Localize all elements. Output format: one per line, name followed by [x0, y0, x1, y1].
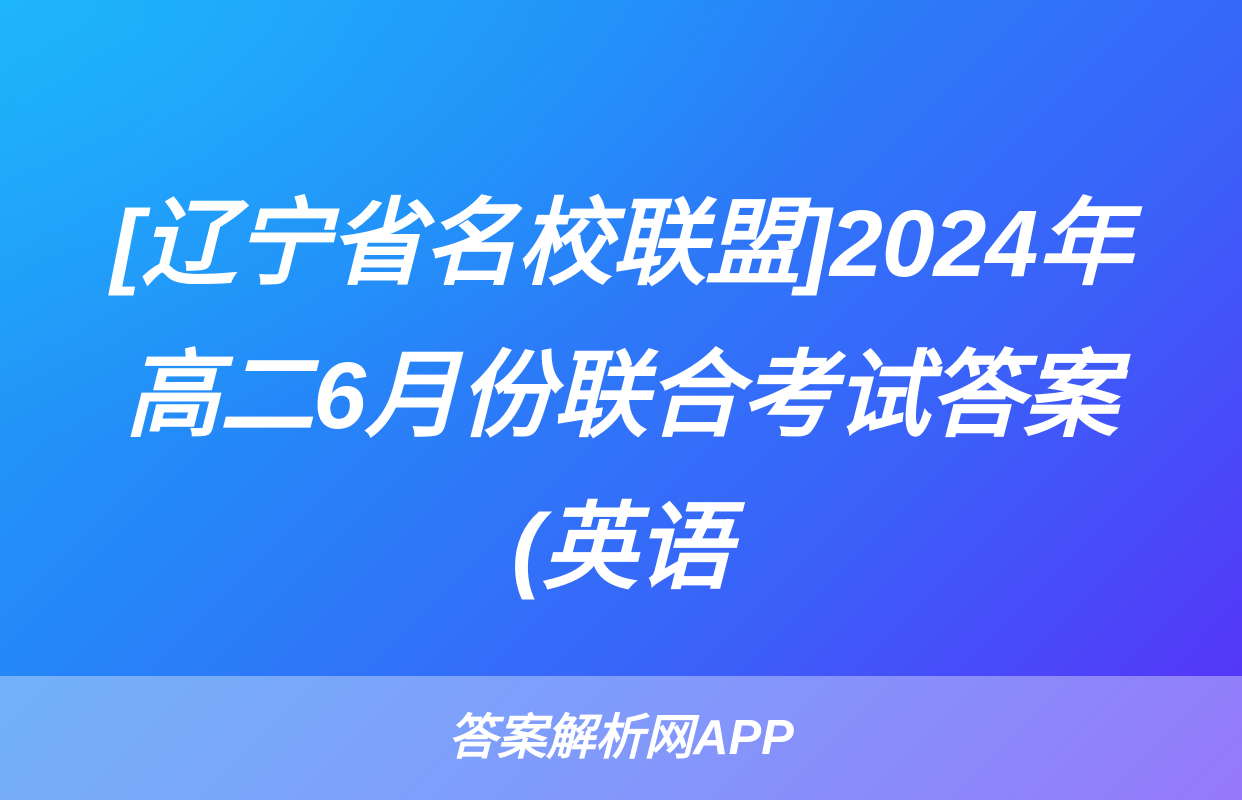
app-watermark-label: 答案解析网APP: [448, 714, 794, 763]
page-title: [辽宁省名校联盟]2024年高二6月份联合考试答案(英语: [64, 168, 1178, 624]
headline-block: [辽宁省名校联盟]2024年高二6月份联合考试答案(英语: [0, 168, 1242, 624]
poster-canvas: [辽宁省名校联盟]2024年高二6月份联合考试答案(英语 答案解析网APP: [0, 0, 1242, 800]
footer-watermark-band: 答案解析网APP: [0, 676, 1242, 800]
